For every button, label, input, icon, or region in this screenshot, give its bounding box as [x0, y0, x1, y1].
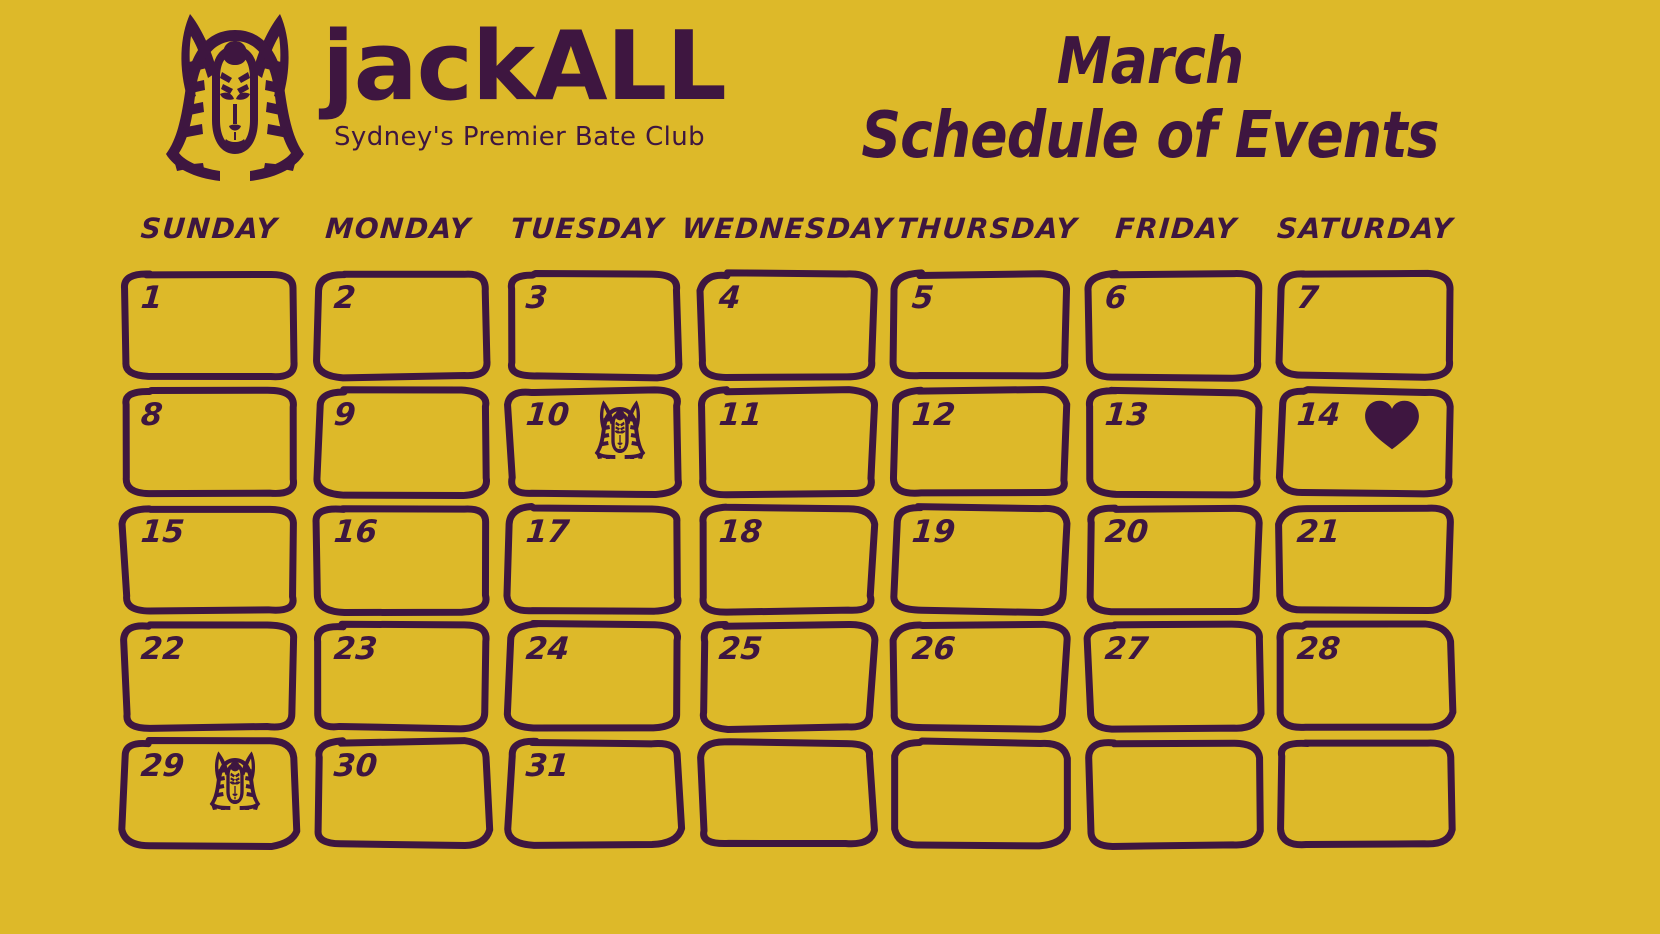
day-number: 21	[1296, 517, 1342, 548]
calendar-day-cell-23[interactable]: 23	[314, 623, 491, 730]
brand-tagline: Sydney's Premier Bate Club	[334, 122, 726, 152]
calendar-day-cell-5[interactable]: 5	[892, 272, 1069, 379]
day-number: 11	[718, 400, 764, 431]
calendar-grid: 1234567891011121314151617181920212223242…	[115, 268, 1460, 851]
calendar-day-cell-31[interactable]: 31	[506, 740, 683, 847]
calendar-day-cell-2[interactable]: 2	[314, 272, 491, 379]
day-of-week-saturday: SATURDAY	[1270, 212, 1461, 245]
calendar-day-cell-11[interactable]: 11	[699, 389, 876, 496]
calendar-day-cell-22[interactable]: 22	[121, 623, 298, 730]
calendar-day-cell-17[interactable]: 17	[506, 506, 683, 613]
calendar-day-cell-14[interactable]: 14	[1277, 389, 1454, 496]
page-header: jackALL Sydney's Premier Bate Club March…	[0, 0, 1660, 200]
calendar-day-cell-16[interactable]: 16	[314, 506, 491, 613]
day-number: 24	[525, 634, 571, 665]
day-number: 19	[910, 517, 956, 548]
calendar-day-cell-13[interactable]: 13	[1085, 389, 1262, 496]
day-number: 23	[332, 634, 378, 665]
day-number: 10	[525, 400, 571, 431]
day-of-week-thursday: THURSDAY	[892, 212, 1083, 245]
cell-border	[892, 740, 1069, 847]
day-number: 3	[525, 283, 549, 314]
cell-border	[699, 740, 876, 847]
calendar-day-cell-4[interactable]: 4	[699, 272, 876, 379]
calendar-day-cell-3[interactable]: 3	[506, 272, 683, 379]
day-of-week-monday: MONDAY	[303, 212, 494, 245]
day-number: 2	[332, 283, 356, 314]
title-subtitle: Schedule of Events	[763, 104, 1537, 168]
cell-border	[1085, 740, 1262, 847]
day-number: 22	[140, 634, 186, 665]
day-of-week-friday: FRIDAY	[1081, 212, 1272, 245]
brand-lockup: jackALL Sydney's Premier Bate Club	[160, 8, 726, 186]
day-number: 9	[332, 400, 356, 431]
day-number: 14	[1296, 400, 1342, 431]
day-number: 12	[910, 400, 956, 431]
day-number: 27	[1103, 634, 1149, 665]
calendar-day-cell-29[interactable]: 29	[121, 740, 298, 847]
page-title: March Schedule of Events	[700, 30, 1600, 168]
day-number: 7	[1296, 283, 1320, 314]
calendar-day-cell-28[interactable]: 28	[1277, 623, 1454, 730]
calendar-day-cell-10[interactable]: 10	[506, 389, 683, 496]
calendar-day-cell-12[interactable]: 12	[892, 389, 1069, 496]
day-number: 6	[1103, 283, 1127, 314]
anubis-head-icon	[205, 750, 265, 810]
day-number: 26	[910, 634, 956, 665]
day-of-week-tuesday: TUESDAY	[492, 212, 683, 245]
calendar-day-cell-8[interactable]: 8	[121, 389, 298, 496]
calendar-day-cell-27[interactable]: 27	[1085, 623, 1262, 730]
calendar-day-cell-empty[interactable]	[699, 740, 876, 847]
day-number: 28	[1296, 634, 1342, 665]
day-number: 17	[525, 517, 571, 548]
day-of-week-sunday: SUNDAY	[114, 212, 305, 245]
calendar-day-cell-9[interactable]: 9	[314, 389, 491, 496]
calendar-day-cell-26[interactable]: 26	[892, 623, 1069, 730]
day-number: 25	[718, 634, 764, 665]
calendar-day-cell-1[interactable]: 1	[121, 272, 298, 379]
calendar-day-cell-30[interactable]: 30	[314, 740, 491, 847]
calendar-day-cell-18[interactable]: 18	[699, 506, 876, 613]
day-number: 1	[140, 283, 164, 314]
anubis-head-icon	[590, 399, 650, 459]
calendar-day-cell-empty[interactable]	[1277, 740, 1454, 847]
calendar-day-cell-25[interactable]: 25	[699, 623, 876, 730]
day-number: 4	[718, 283, 742, 314]
anubis-head-icon	[160, 8, 310, 186]
calendar-day-cell-empty[interactable]	[1085, 740, 1262, 847]
calendar-day-cell-19[interactable]: 19	[892, 506, 1069, 613]
cell-border	[1277, 740, 1454, 847]
calendar-day-cell-15[interactable]: 15	[121, 506, 298, 613]
day-of-week-wednesday: WEDNESDAY	[681, 212, 895, 245]
day-number: 16	[332, 517, 378, 548]
day-number: 18	[718, 517, 764, 548]
day-number: 13	[1103, 400, 1149, 431]
calendar-day-cell-21[interactable]: 21	[1277, 506, 1454, 613]
day-number: 31	[525, 751, 571, 782]
day-number: 20	[1103, 517, 1149, 548]
day-number: 8	[140, 400, 164, 431]
title-month: March	[763, 30, 1537, 94]
calendar-day-cell-24[interactable]: 24	[506, 623, 683, 730]
day-number: 15	[140, 517, 186, 548]
calendar-day-cell-6[interactable]: 6	[1085, 272, 1262, 379]
heart-icon	[1363, 399, 1421, 451]
day-number: 5	[910, 283, 934, 314]
day-number: 29	[140, 751, 186, 782]
calendar-day-cell-20[interactable]: 20	[1085, 506, 1262, 613]
day-of-week-header-row: SUNDAYMONDAYTUESDAYWEDNESDAYTHURSDAYFRID…	[115, 212, 1460, 245]
calendar-day-cell-7[interactable]: 7	[1277, 272, 1454, 379]
brand-name: jackALL	[322, 22, 726, 112]
calendar-day-cell-empty[interactable]	[892, 740, 1069, 847]
brand-text: jackALL Sydney's Premier Bate Club	[322, 8, 726, 152]
day-number: 30	[332, 751, 378, 782]
